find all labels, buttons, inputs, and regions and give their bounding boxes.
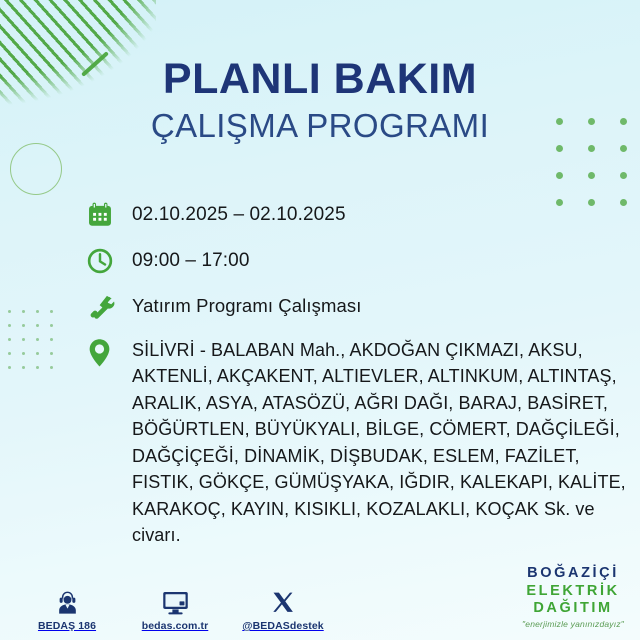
bedas-logo: BOĞAZİÇİ ELEKTRİK DAĞITIM "enerjimizle y… xyxy=(522,566,624,628)
detail-row-date: 02.10.2025 – 02.10.2025 xyxy=(86,198,626,232)
clock-icon xyxy=(86,244,132,278)
page-subtitle: ÇALIŞMA PROGRAMI xyxy=(0,108,640,144)
brand-line-2: ELEKTRİK xyxy=(522,584,624,599)
page-title: PLANLI BAKIM xyxy=(0,58,640,102)
footer-link-label: BEDAŞ 186 xyxy=(38,620,96,632)
footer-link-phone[interactable]: BEDAŞ 186 xyxy=(24,586,110,632)
monitor-icon xyxy=(161,586,190,616)
calendar-icon xyxy=(86,198,132,232)
detail-row-time: 09:00 – 17:00 xyxy=(86,244,626,278)
footer-link-label: bedas.com.tr xyxy=(142,620,209,632)
maintenance-time: 09:00 – 17:00 xyxy=(132,244,250,273)
tools-icon xyxy=(86,290,132,324)
footer-link-twitter[interactable]: @BEDASdestek xyxy=(240,586,326,632)
x-twitter-icon xyxy=(271,586,296,616)
footer-contact-links: BEDAŞ 186 bedas.com.tr xyxy=(24,586,326,632)
maintenance-work-type: Yatırım Programı Çalışması xyxy=(132,290,361,319)
brand-line-3: DAĞITIM xyxy=(522,601,624,616)
support-headset-icon xyxy=(54,586,81,616)
maintenance-date: 02.10.2025 – 02.10.2025 xyxy=(132,198,346,227)
detail-row-work-type: Yatırım Programı Çalışması xyxy=(86,290,626,324)
poster-header: PLANLI BAKIM ÇALIŞMA PROGRAMI xyxy=(0,58,640,144)
maintenance-details: 02.10.2025 – 02.10.2025 09:00 – 17:00 xyxy=(86,198,626,549)
footer-link-label: @BEDASdestek xyxy=(242,620,323,632)
poster-footer: BEDAŞ 186 bedas.com.tr xyxy=(0,566,640,640)
planned-maintenance-poster: PLANLI BAKIM ÇALIŞMA PROGRAMI xyxy=(0,0,640,640)
location-pin-icon xyxy=(86,336,132,370)
circle-outline-decoration xyxy=(10,143,62,195)
brand-line-1: BOĞAZİÇİ xyxy=(522,566,624,581)
detail-row-location: SİLİVRİ - BALABAN Mah., AKDOĞAN ÇIKMAZI,… xyxy=(86,336,626,549)
footer-link-website[interactable]: bedas.com.tr xyxy=(132,586,218,632)
brand-tagline: "enerjimizle yanınızdayız" xyxy=(522,620,624,629)
maintenance-location: SİLİVRİ - BALABAN Mah., AKDOĞAN ÇIKMAZI,… xyxy=(132,336,626,549)
left-dot-grid-decoration xyxy=(8,310,64,380)
